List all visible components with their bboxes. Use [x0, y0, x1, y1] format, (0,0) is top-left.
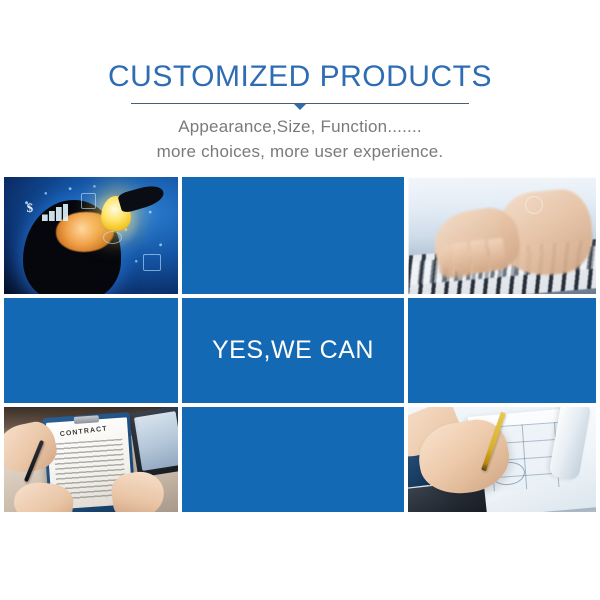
tablet-device: [128, 407, 178, 478]
slogan-text: YES,WE CAN: [212, 336, 374, 365]
subtitle-line-2: more choices, more user experience.: [157, 139, 444, 164]
yes-we-can-tile: YES,WE CAN: [182, 298, 404, 403]
bar-chart-icon: [42, 204, 68, 222]
page-title: CUSTOMIZED PRODUCTS: [108, 62, 492, 92]
title-divider: [131, 101, 469, 113]
blue-tile-top-center: [182, 177, 404, 294]
document-icon: [143, 254, 160, 270]
device-icon: [81, 193, 97, 208]
contract-signing-photo: CONTRACT: [4, 407, 178, 512]
keyboard-typing-image: [408, 177, 596, 294]
triangle-down-icon: [294, 104, 306, 110]
dollar-sign-icon: $: [27, 200, 34, 216]
blue-tile-middle-right: [408, 298, 596, 403]
contract-heading-text: CONTRACT: [59, 426, 108, 439]
subtitle-line-1: Appearance,Size, Function.......: [178, 114, 422, 139]
product-tile-grid: $ YES,WE CAN: [4, 177, 596, 512]
brain-innovation-photo: $: [4, 177, 178, 294]
gear-icon: [103, 231, 122, 244]
contract-signing-image: CONTRACT: [4, 407, 178, 512]
blue-tile-middle-left: [4, 298, 178, 403]
tablet-screen: [133, 411, 178, 472]
banner-header: CUSTOMIZED PRODUCTS Appearance,Size, Fun…: [0, 0, 600, 172]
customized-products-banner: CUSTOMIZED PRODUCTS Appearance,Size, Fun…: [0, 0, 600, 600]
blue-tile-bottom-center: [182, 407, 404, 512]
blueprint-drafting-photo: [408, 407, 596, 512]
keyboard-typing-photo: [408, 177, 596, 294]
brain-innovation-image: $: [4, 177, 178, 294]
digital-overlay-lines: [408, 177, 596, 294]
blueprint-drafting-image: [408, 407, 596, 512]
